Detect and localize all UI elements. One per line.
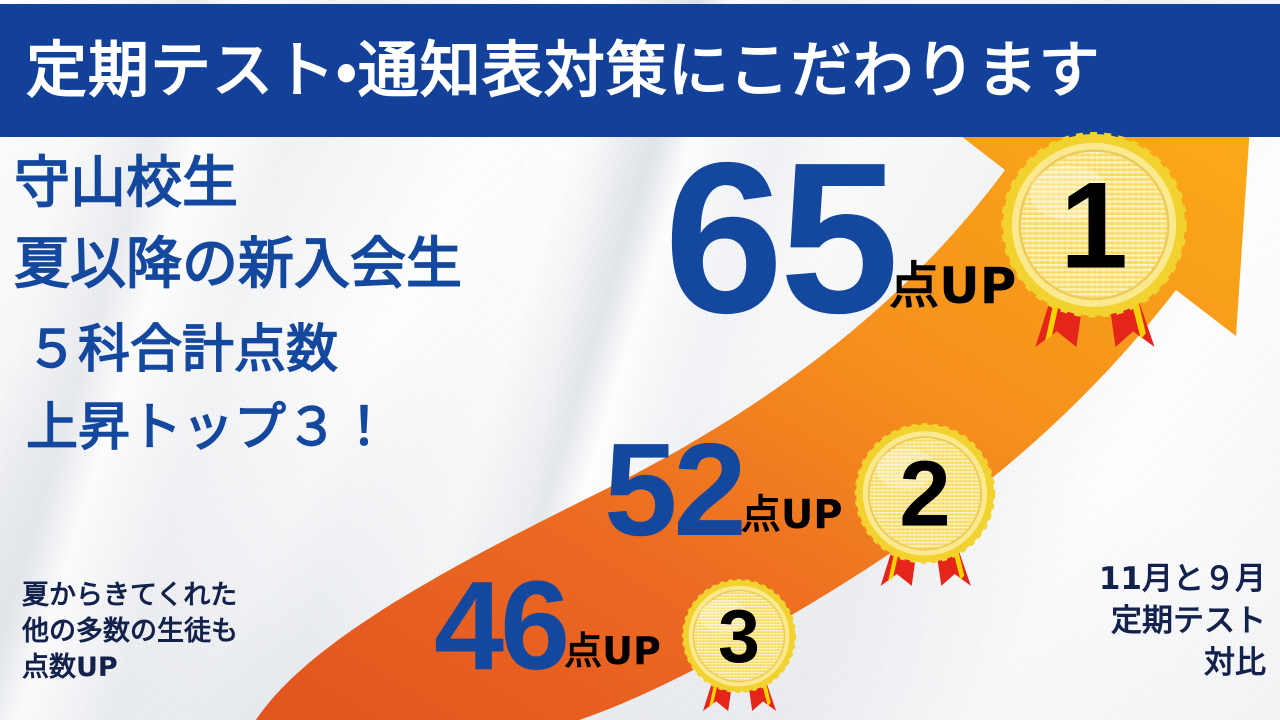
medal-rosette-rank-2: 2: [851, 423, 999, 586]
compare-line-3: 対比: [1099, 642, 1266, 684]
medal-rosette-rank-3: 3: [679, 578, 799, 712]
headline-line-4: 上昇トップ３！: [26, 398, 462, 458]
supporting-note: 夏からきてくれた 他の多数の生徒も 点数UP: [22, 578, 238, 687]
headline-line-3: ５科合計点数: [26, 320, 462, 380]
headline-line-2: 夏以降の新入会生: [14, 233, 462, 298]
score-group-rank-2: 52 点UP: [604, 437, 843, 543]
header-banner: 定期テスト・通知表対策にこだわります: [0, 4, 1280, 137]
headline-block: 守山校生 夏以降の新入会生 ５科合計点数 上昇トップ３！: [14, 152, 462, 459]
note-line-1: 夏からきてくれた: [22, 578, 238, 614]
note-line-2: 他の多数の生徒も: [22, 614, 238, 650]
score-suffix-rank-3: 点UP: [564, 633, 661, 677]
poster-canvas: 定期テスト・通知表対策にこだわります 守山校生 夏以降の新入会生 ５科合計点数 …: [0, 0, 1280, 720]
medal-rank-label-2: 2: [899, 441, 950, 545]
compare-line-1: 11月と９月: [1099, 558, 1266, 600]
medal-rank-label-1: 1: [1060, 156, 1128, 293]
compare-line-2: 定期テスト: [1099, 600, 1266, 642]
score-suffix-rank-2: 点UP: [741, 496, 843, 543]
banner-title: 定期テスト・通知表対策にこだわります: [26, 40, 1101, 101]
score-value-rank-3: 46: [434, 576, 566, 677]
note-line-3: 点数UP: [22, 650, 238, 686]
score-value-rank-1: 65: [664, 152, 895, 324]
score-group-rank-3: 46 点UP: [434, 576, 661, 677]
comparison-note: 11月と９月 定期テスト 対比: [1099, 558, 1266, 684]
score-group-rank-1: 65 点UP: [664, 152, 1016, 324]
medal-rosette-rank-1: 1: [996, 132, 1192, 347]
headline-line-1: 守山校生: [14, 152, 462, 217]
score-value-rank-2: 52: [604, 437, 743, 543]
medal-rank-label-3: 3: [718, 594, 760, 678]
